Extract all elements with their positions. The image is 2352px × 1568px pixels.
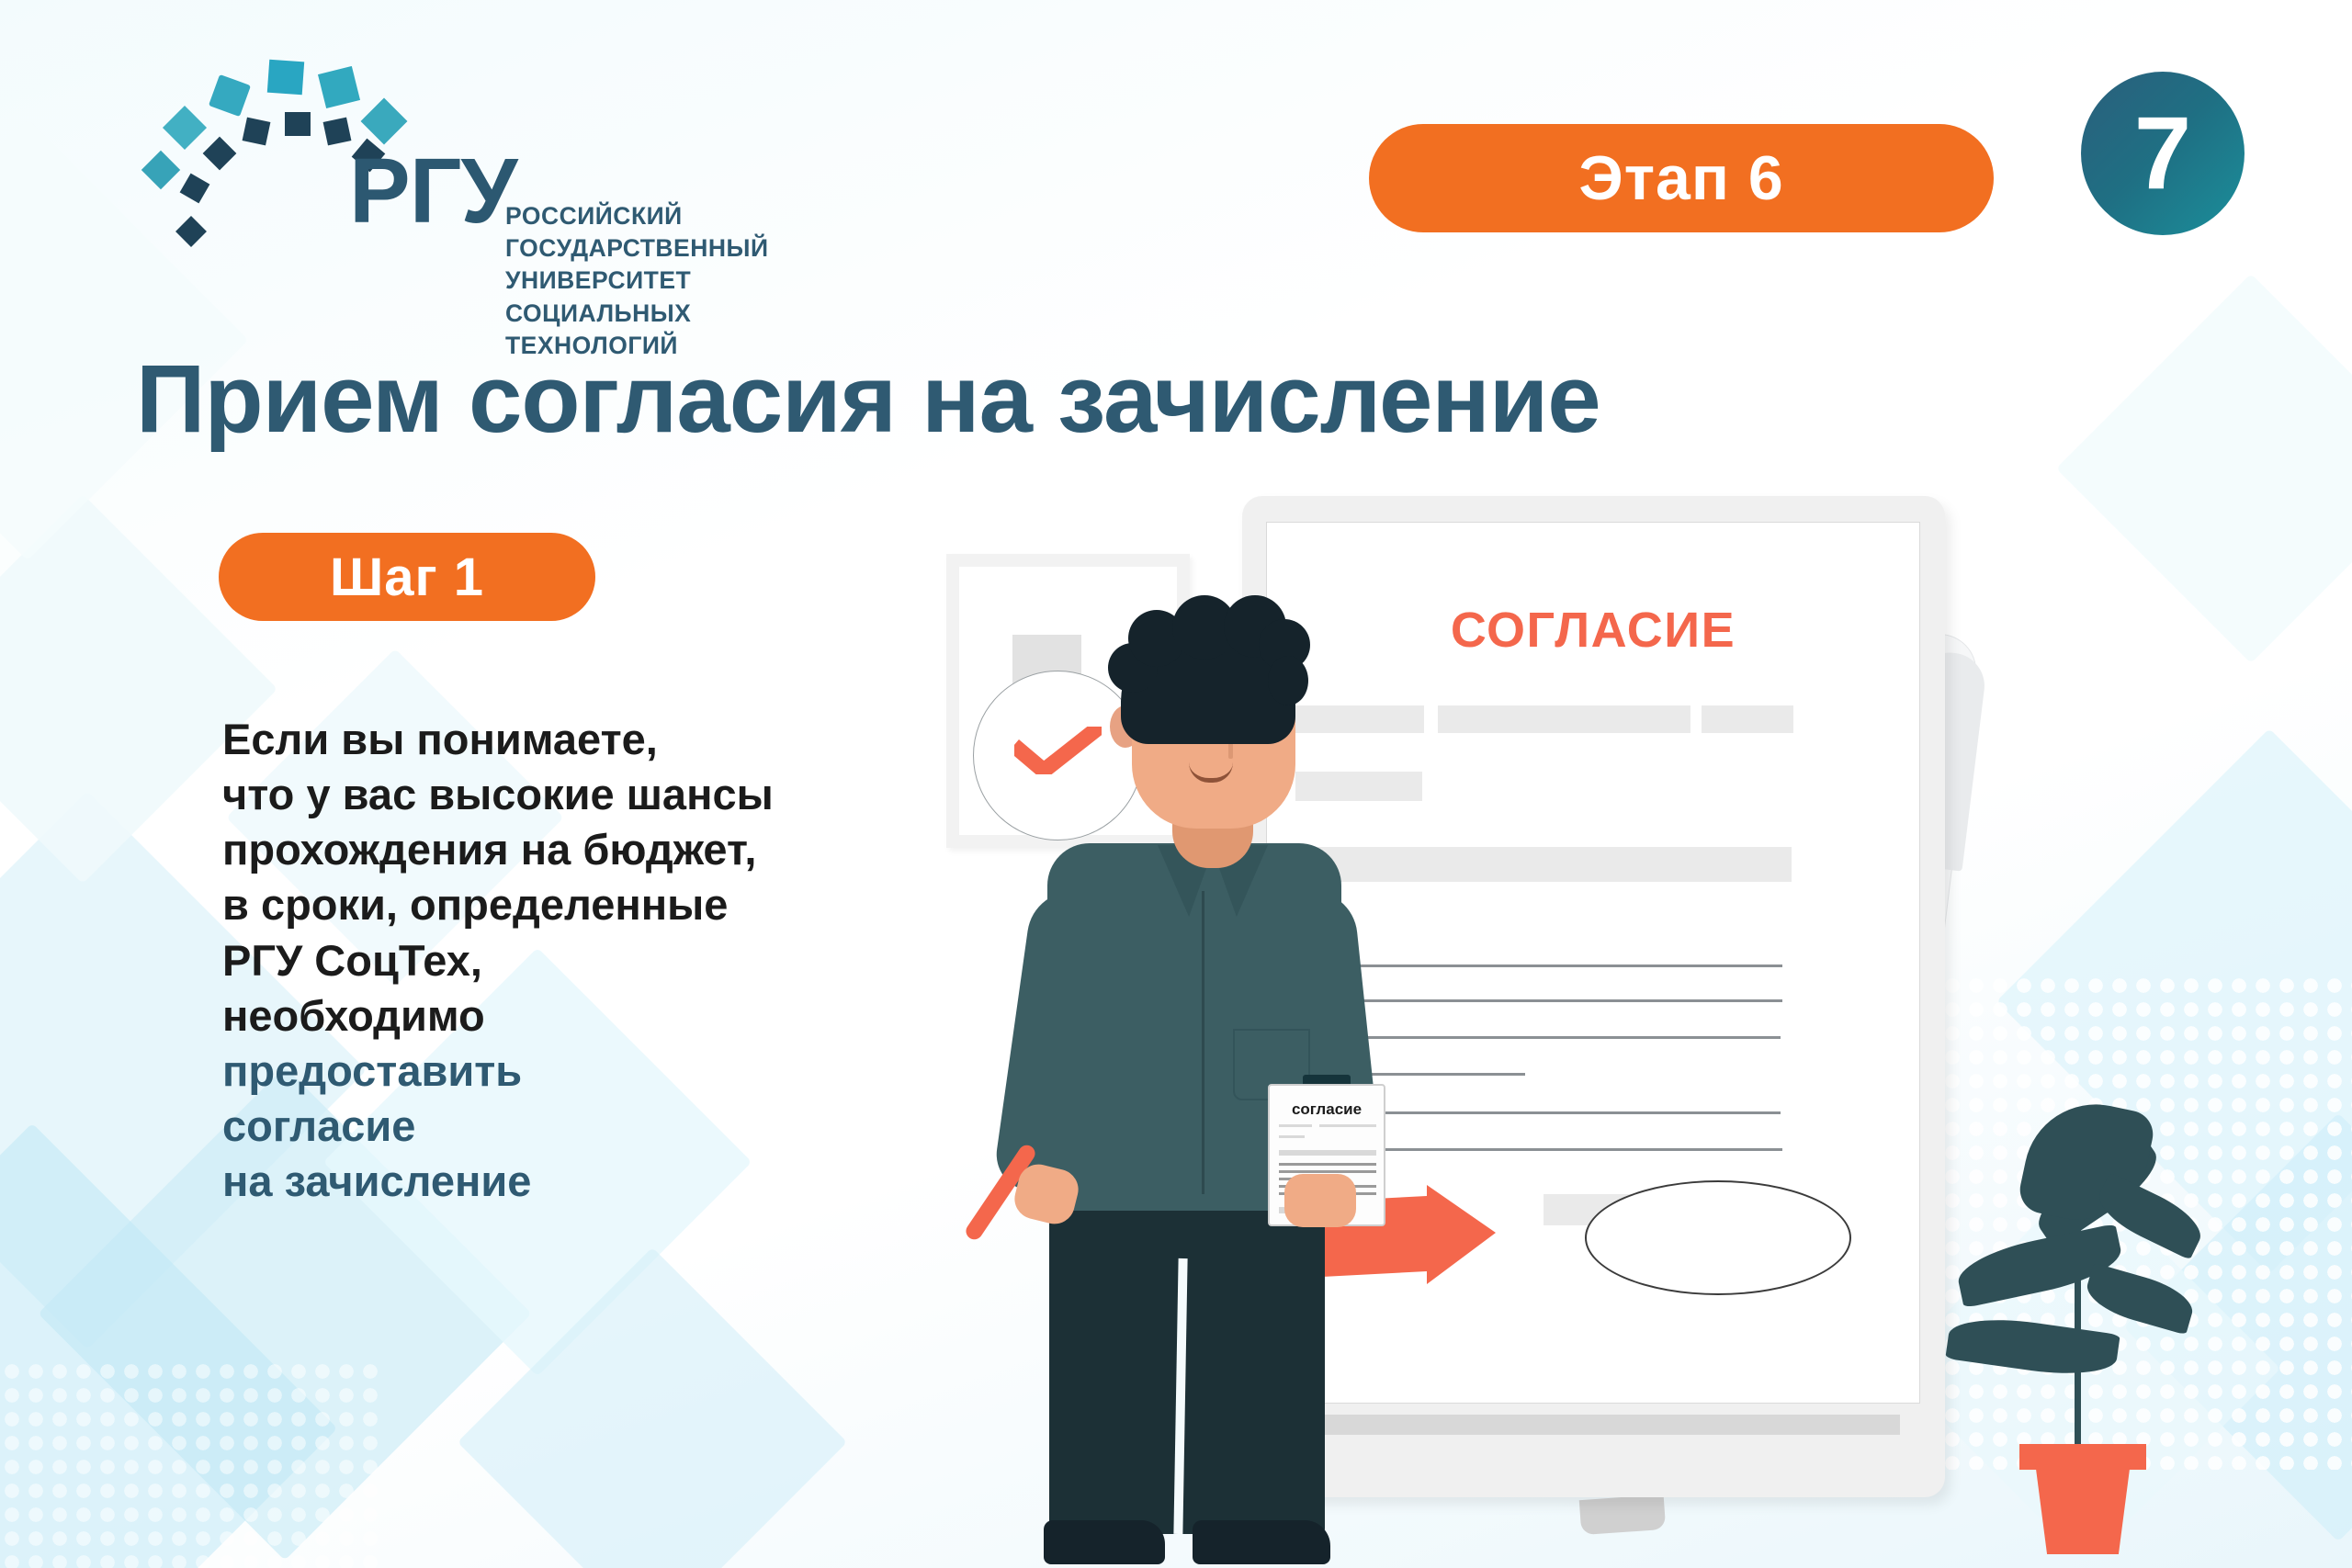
description-highlight-line: предоставить: [222, 1043, 865, 1099]
university-logo: РГУ РОССИЙСКИЙ ГОСУДАРСТВЕННЫЙ УНИВЕРСИТ…: [138, 46, 836, 225]
person-shoe-right: [1193, 1520, 1330, 1564]
plant-leaf: [1945, 1311, 2120, 1382]
slide-number-value: 7: [2134, 102, 2191, 205]
logo-arc-square: [141, 151, 180, 189]
description-highlight-line: согласие: [222, 1099, 865, 1154]
held-doc-line: [1279, 1150, 1376, 1156]
logo-full-name: РОССИЙСКИЙ ГОСУДАРСТВЕННЫЙ УНИВЕРСИТЕТ С…: [505, 200, 836, 362]
slide-number-badge: 7: [2081, 72, 2245, 235]
logo-arc-square: [243, 118, 271, 146]
plant-pot: [2029, 1462, 2137, 1554]
logo-arc-square: [203, 137, 237, 171]
shirt-placket: [1202, 891, 1204, 1194]
person-hair: [1121, 615, 1295, 744]
logo-arc-square: [209, 74, 251, 117]
doc-placeholder-bar: [1702, 705, 1793, 733]
person-shoe-left: [1044, 1520, 1165, 1564]
held-doc-line: [1279, 1124, 1312, 1127]
logo-arc-square: [323, 118, 352, 146]
logo-arc-square: [285, 112, 311, 136]
step-badge: Шаг 1: [219, 533, 595, 621]
person-illustration: согласие: [992, 615, 1387, 1568]
description-line: прохождения на бюджет,: [222, 822, 865, 877]
held-doc-line: [1279, 1135, 1305, 1138]
description-line: необходимо: [222, 988, 865, 1043]
description-line: Если вы понимаете,: [222, 712, 865, 767]
doc-placeholder-bar: [1438, 705, 1690, 733]
background-dot-pattern: [0, 1359, 386, 1568]
illustration: СОГЛАСИЕ: [900, 468, 2334, 1568]
logo-abbr: РГУ: [349, 145, 517, 237]
logo-name-line-2: УНИВЕРСИТЕТ СОЦИАЛЬНЫХ: [505, 265, 836, 329]
person-hand-right: [1284, 1174, 1356, 1227]
description-line: РГУ СоцТех,: [222, 933, 865, 988]
logo-arc-square: [267, 60, 304, 96]
stage-badge-label: Этап 6: [1578, 142, 1783, 214]
plant-stem: [2075, 1222, 2081, 1451]
description-line: что у вас высокие шансы: [222, 767, 865, 822]
logo-arc-square: [163, 106, 207, 150]
held-doc-line: [1319, 1124, 1376, 1127]
stage-badge: Этап 6: [1369, 124, 1994, 232]
logo-arc-square: [180, 174, 210, 204]
signature-oval-field: [1585, 1180, 1851, 1295]
held-doc-line: [1279, 1170, 1376, 1173]
description-line: в сроки, определенные: [222, 877, 865, 932]
plant-leaf: [2082, 1263, 2199, 1336]
logo-name-line-1: РОССИЙСКИЙ ГОСУДАРСТВЕННЫЙ: [505, 200, 836, 265]
step-badge-label: Шаг 1: [330, 547, 484, 608]
clipboard-leg: [1579, 1495, 1666, 1535]
description-highlight-line: на зачисление: [222, 1154, 865, 1209]
page-title: Прием согласия на зачисление: [136, 344, 1600, 455]
held-document-title: согласие: [1268, 1100, 1385, 1119]
step-description: Если вы понимаете, что у вас высокие шан…: [222, 712, 865, 1209]
hair-curl: [1268, 656, 1308, 705]
person-legs: [1049, 1176, 1325, 1534]
held-doc-line: [1279, 1163, 1376, 1166]
logo-arc-square: [361, 98, 408, 145]
logo-arc-square: [318, 66, 360, 108]
